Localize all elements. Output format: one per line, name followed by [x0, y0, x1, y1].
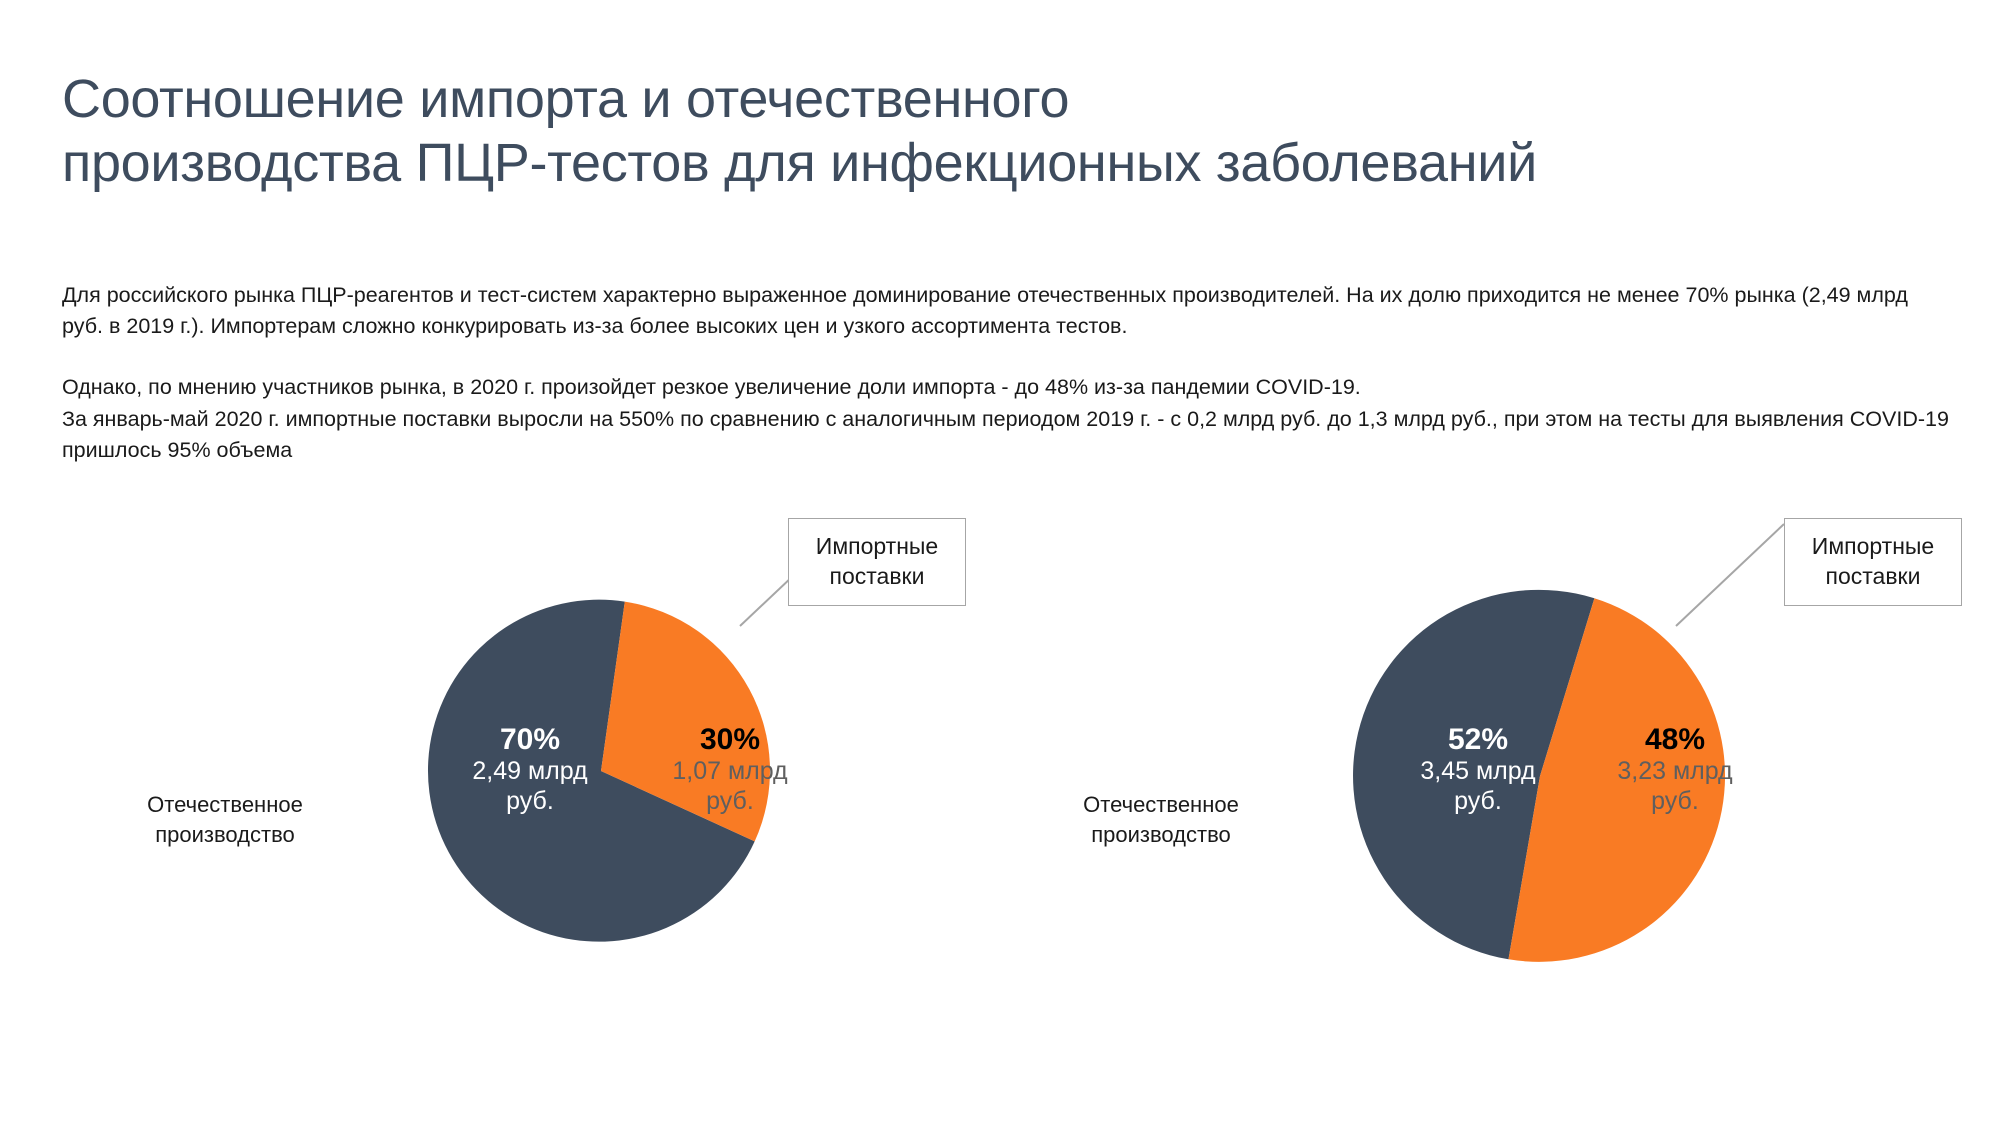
pie-import-percent: 48%: [1590, 722, 1760, 757]
body-copy: Для российского рынка ПЦР-реагентов и те…: [62, 258, 1952, 488]
pie-side-label-domestic-2019: Отечественное производство: [80, 790, 370, 849]
pie-slice-domestic[interactable]: [428, 600, 755, 942]
pie-import-percent: 30%: [645, 722, 815, 757]
callout-leader-line-2019: [740, 520, 870, 630]
pie-label-import-2019: 30% 1,07 млрд руб.: [645, 722, 815, 816]
pie-slice-domestic[interactable]: [1353, 590, 1594, 959]
pie-svg-2019: [430, 600, 772, 942]
pie-svg-2020: [1354, 590, 1726, 962]
pie-import-value: 3,23 млрд руб.: [1590, 757, 1760, 816]
pie-domestic-percent: 70%: [430, 722, 630, 757]
paragraph-2: Однако, по мнению участников рынка, в 20…: [62, 372, 1952, 466]
pie-slice-import[interactable]: [1508, 598, 1725, 962]
pie-import-value: 1,07 млрд руб.: [645, 757, 815, 816]
callout-leader-line-2020: [1676, 520, 1806, 630]
page-title: Соотношение импорта и отечественного про…: [62, 68, 1962, 195]
paragraph-1: Для российского рынка ПЦР-реагентов и те…: [62, 280, 1952, 343]
slide-canvas: Соотношение импорта и отечественного про…: [0, 0, 2005, 1125]
pie-label-import-2020: 48% 3,23 млрд руб.: [1590, 722, 1760, 816]
pie-domestic-percent: 52%: [1378, 722, 1578, 757]
pie-slice-import[interactable]: [601, 602, 770, 842]
callout-import-2019[interactable]: Импортные поставки: [788, 518, 966, 606]
callout-import-2020[interactable]: Импортные поставки: [1784, 518, 1962, 606]
pie-domestic-value: 2,49 млрд руб.: [430, 757, 630, 816]
pie-label-domestic-2020: 52% 3,45 млрд руб.: [1378, 722, 1578, 816]
pie-domestic-value: 3,45 млрд руб.: [1378, 757, 1578, 816]
pie-label-domestic-2019: 70% 2,49 млрд руб.: [430, 722, 630, 816]
pie-side-label-domestic-2020: Отечественное производство: [1016, 790, 1306, 849]
